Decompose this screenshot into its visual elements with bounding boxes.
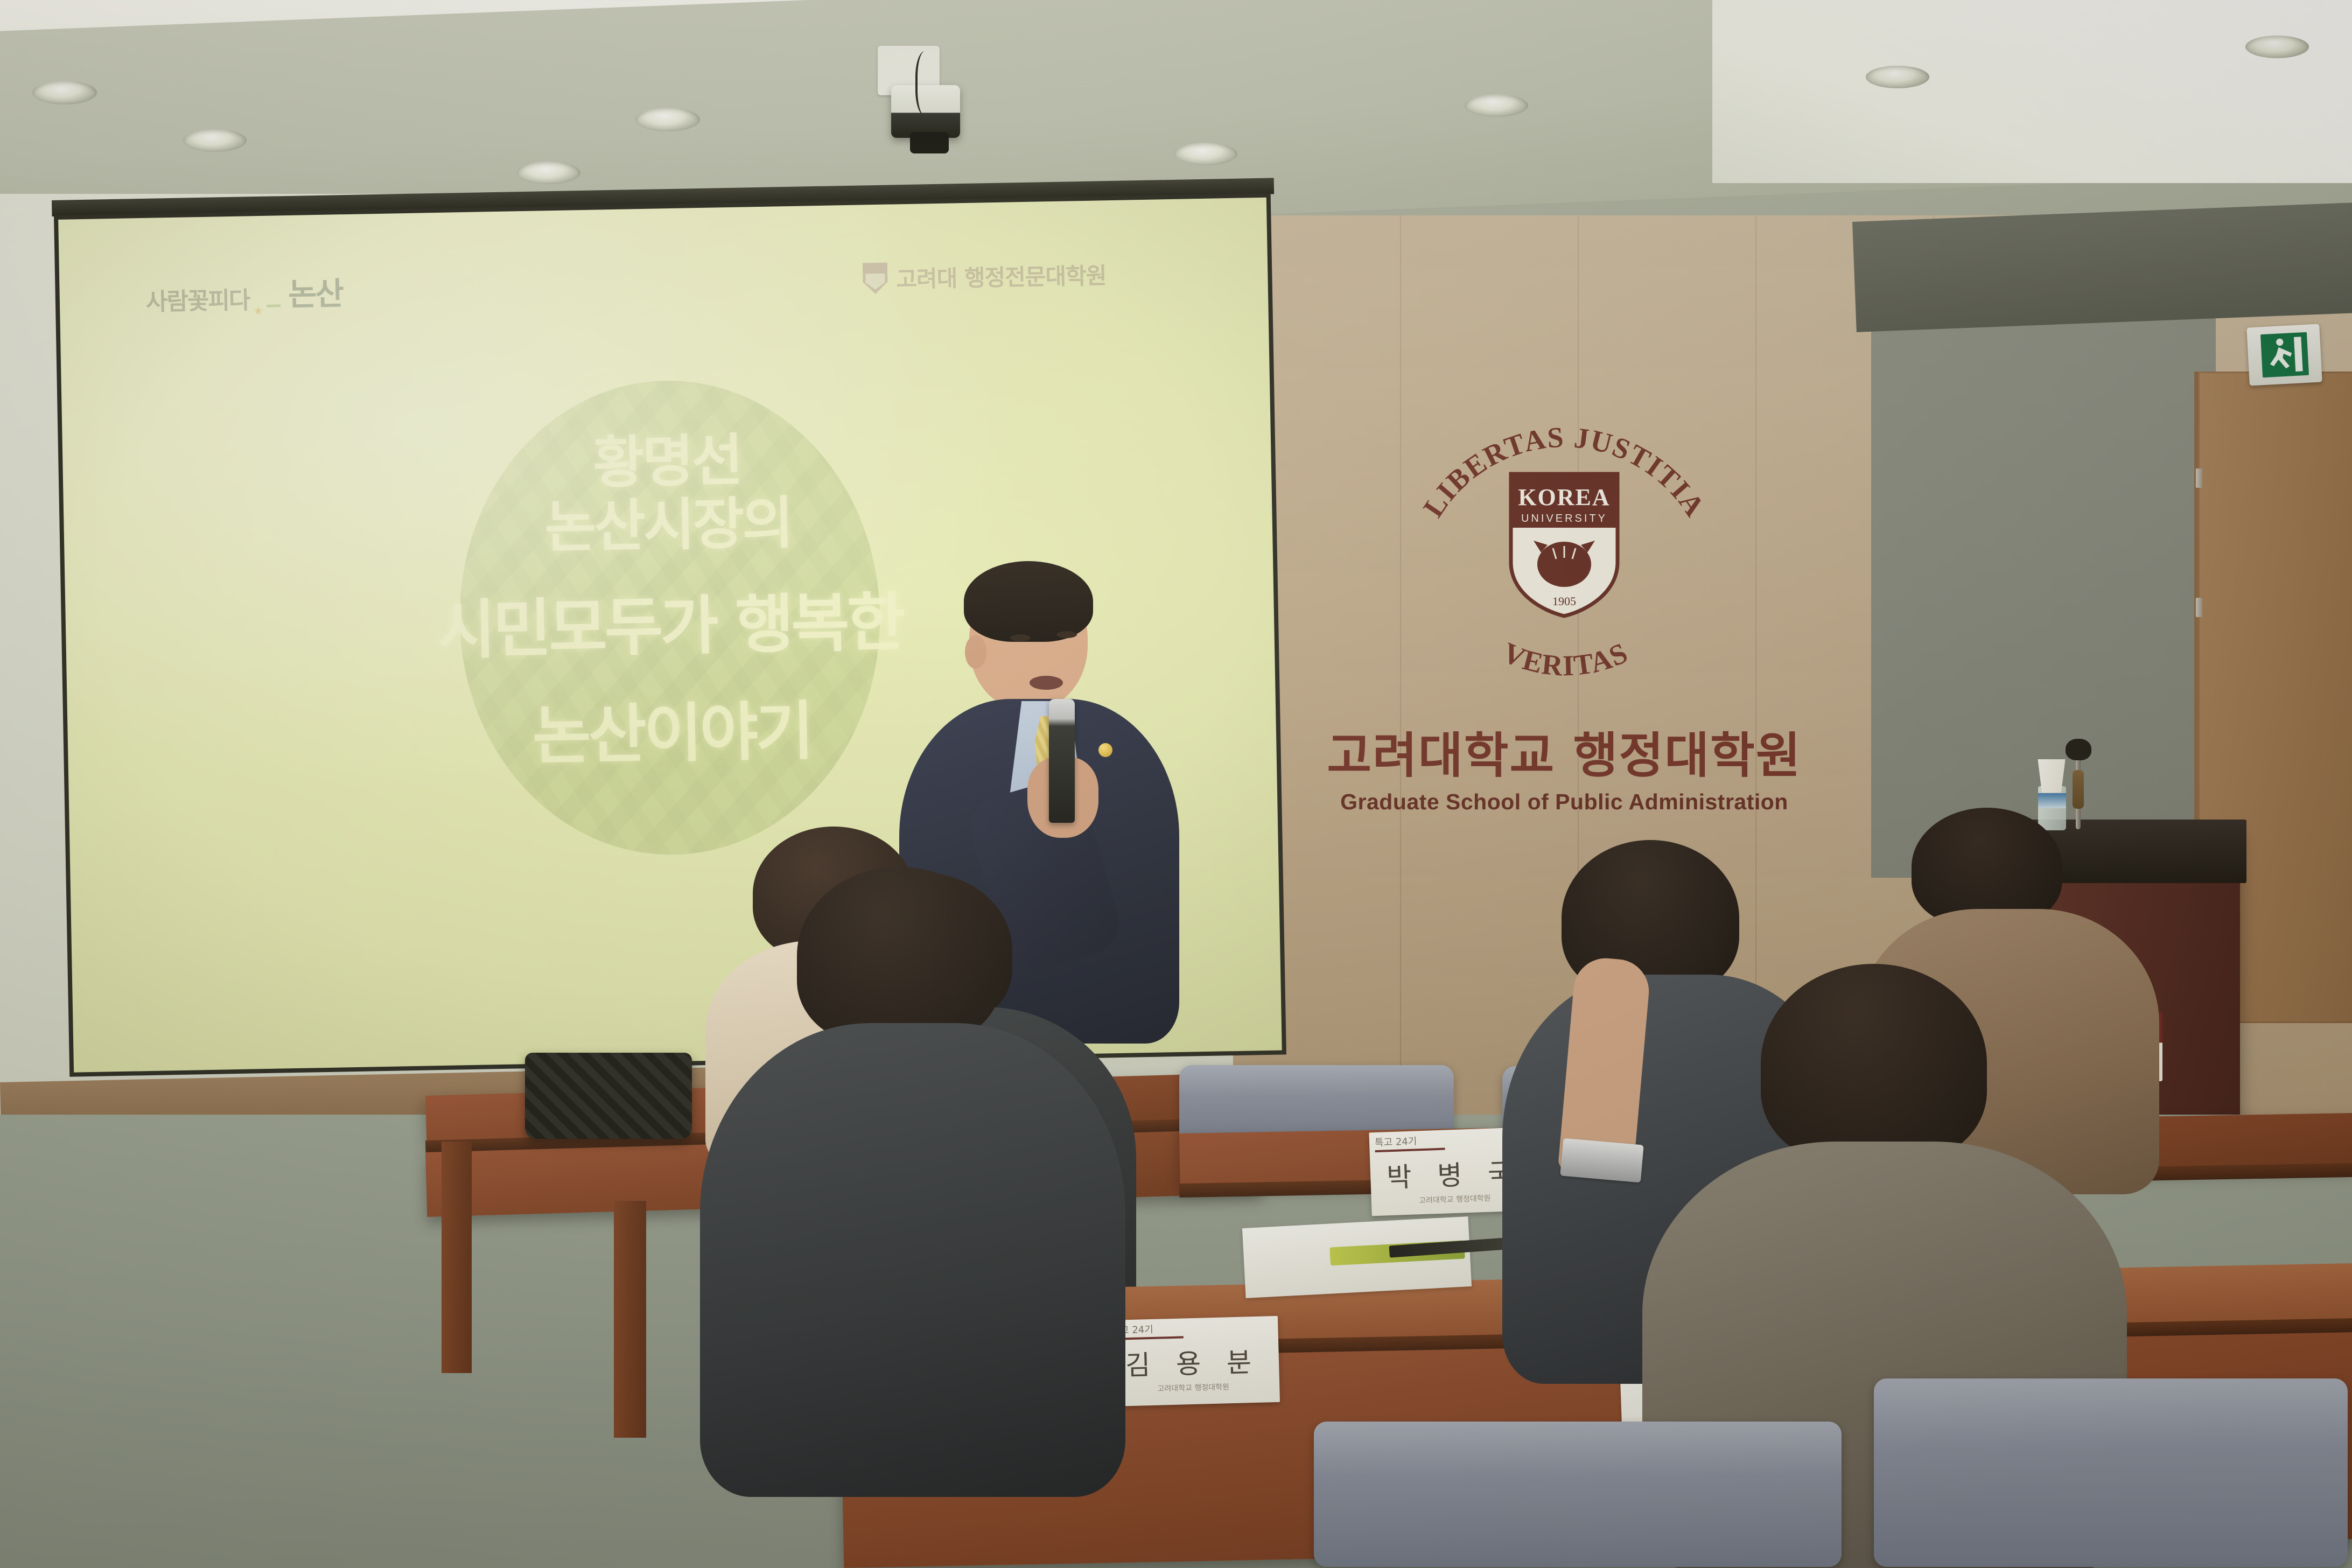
- ceiling-downlight: [1465, 94, 1528, 117]
- ceiling-downlight: [183, 129, 247, 152]
- audience-hair: [1761, 964, 1987, 1163]
- nameplate-name: 김 용 분: [1106, 1336, 1279, 1384]
- ceiling-downlight: [1866, 66, 1929, 88]
- ceiling-downlight: [32, 81, 97, 104]
- lapel-pin-icon: [1098, 743, 1112, 757]
- lecture-hall-photo: 사람꽃피다 논산 고려대 행정전문대학원 황명선 논산시장의 시민모두가 행복한…: [0, 0, 2352, 1568]
- shield-university-text: UNIVERSITY: [1521, 513, 1607, 524]
- korea-university-crest: LIBERTAS JUSTITIA VERITAS KOREA UNIVERSI…: [1378, 377, 1750, 700]
- handheld-microphone: [1049, 699, 1075, 823]
- emergency-exit-sign: [2246, 324, 2322, 386]
- ceiling-downlight: [2245, 36, 2309, 58]
- ceiling-right-bright: [1712, 0, 2352, 183]
- projector-cable: [915, 51, 939, 116]
- desk-leg: [614, 1201, 646, 1438]
- ceiling-downlight: [517, 162, 580, 184]
- speaker-eye-left: [1010, 634, 1031, 641]
- chair-front-row[interactable]: [1874, 1378, 2348, 1567]
- wall-dark-header-band: [1852, 202, 2352, 332]
- crest-motto-bottom: VERITAS: [1498, 636, 1633, 682]
- audience-hair: [797, 867, 1002, 1045]
- wordmark-korean: 고려대학교 행정대학원: [1292, 716, 1836, 786]
- speaker-ear: [965, 635, 986, 669]
- shield-korea-text: KOREA: [1518, 484, 1610, 510]
- door-hinge: [2196, 598, 2202, 617]
- gooseneck-microphone-grip: [2073, 770, 2084, 809]
- speaker-hair: [964, 561, 1093, 642]
- door-hinge: [2196, 468, 2202, 488]
- audience-jacket: [700, 1023, 1125, 1497]
- speaker-mouth: [1030, 676, 1063, 690]
- exit-running-man-icon: [2260, 332, 2308, 377]
- ceiling-downlight: [1174, 143, 1237, 165]
- running-man-glyph: [2260, 332, 2308, 377]
- wall-wordmark: 고려대학교 행정대학원 Graduate School of Public Ad…: [1292, 716, 1836, 815]
- nameplate-header: 특고 24기: [1105, 1316, 1278, 1338]
- speaker-eye-right: [1056, 631, 1077, 638]
- ku-shield-emblem: KOREA UNIVERSITY 1905: [1509, 472, 1620, 618]
- wordmark-english: Graduate School of Public Administration: [1292, 789, 1836, 815]
- wristwatch: [1560, 1138, 1644, 1183]
- desk-leg: [442, 1142, 472, 1373]
- nameplate-front: 특고 24기 김 용 분 고려대학교 행정대학원: [1105, 1316, 1280, 1406]
- gooseneck-microphone-head: [2066, 739, 2091, 760]
- bottle-label: [2038, 793, 2066, 808]
- audience-hair: [1912, 808, 2062, 926]
- handbag: [525, 1053, 692, 1139]
- projector-lens: [910, 132, 949, 153]
- chair-front-row[interactable]: [1314, 1422, 1842, 1567]
- shield-year-text: 1905: [1552, 594, 1576, 608]
- ceiling-downlight: [635, 108, 700, 131]
